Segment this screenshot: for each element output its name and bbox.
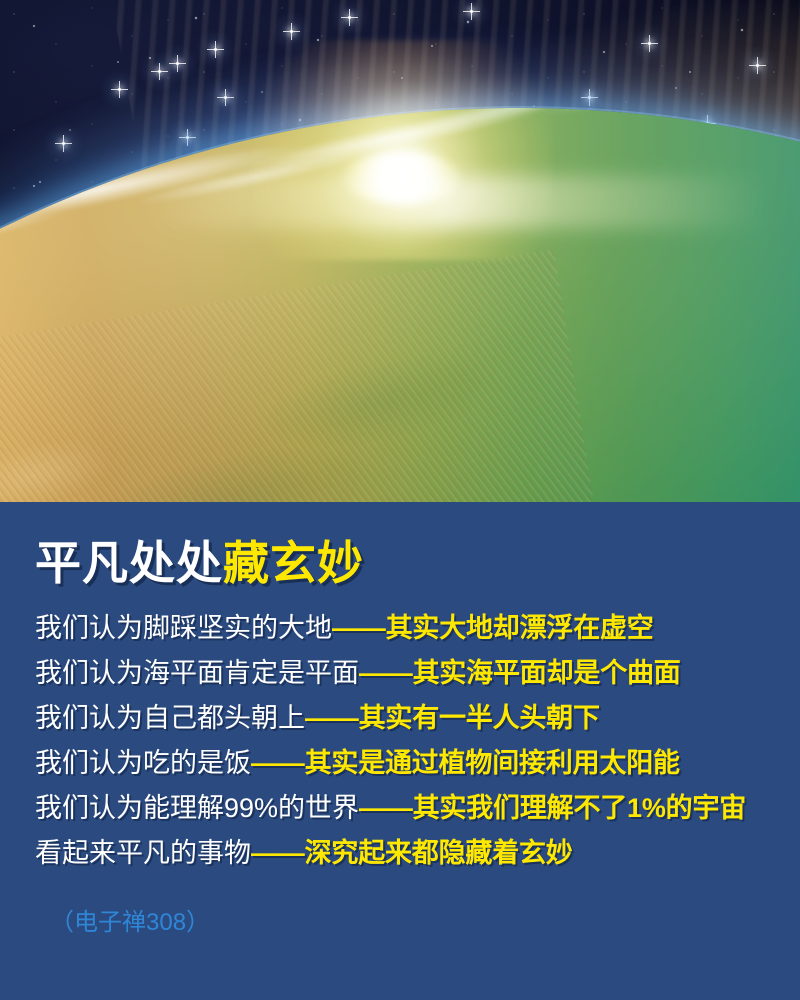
- author-signature: （电子禅308）: [50, 902, 210, 937]
- aphorism-reveal: 其实我们理解不了1%的宇宙: [413, 793, 746, 823]
- title-yellow-part: 藏玄妙: [223, 537, 364, 589]
- aphorism-premise: 我们认为能理解99%的世界: [35, 793, 359, 823]
- aphorism-premise: 我们认为自己都头朝上: [35, 703, 305, 733]
- sun-horizontal-flare: [150, 176, 770, 228]
- aphorism-premise: 我们认为吃的是饭: [35, 748, 251, 778]
- sun-core: [343, 152, 461, 204]
- aphorism-line: 我们认为脚踩坚实的大地——其实大地却漂浮在虚空: [35, 606, 785, 651]
- title-white-part: 平凡处处: [35, 537, 223, 589]
- aphorism-reveal: 其实是通过植物间接利用太阳能: [305, 748, 680, 778]
- aphorism-line: 我们认为吃的是饭——其实是通过植物间接利用太阳能: [35, 741, 785, 786]
- aphorism-reveal: 其实有一半人头朝下: [359, 703, 600, 733]
- aphorism-premise: 我们认为脚踩坚实的大地: [35, 613, 332, 643]
- aphorism-premise: 看起来平凡的事物: [35, 838, 251, 868]
- poster-root: 平凡处处藏玄妙 我们认为脚踩坚实的大地——其实大地却漂浮在虚空 我们认为海平面肯…: [0, 0, 800, 1000]
- aphorism-line: 我们认为能理解99%的世界——其实我们理解不了1%的宇宙: [35, 786, 785, 831]
- hero-space-image: [0, 0, 800, 502]
- aphorism-dash: ——: [251, 748, 305, 778]
- page-title: 平凡处处藏玄妙: [35, 540, 364, 586]
- aphorism-dash: ——: [251, 838, 305, 868]
- aphorism-reveal: 其实海平面却是个曲面: [413, 658, 681, 688]
- aphorism-dash: ——: [359, 793, 413, 823]
- aphorism-premise: 我们认为海平面肯定是平面: [35, 658, 359, 688]
- aphorism-dash: ——: [305, 703, 359, 733]
- aphorism-line: 我们认为自己都头朝上——其实有一半人头朝下: [35, 696, 785, 741]
- aphorism-line: 看起来平凡的事物——深究起来都隐藏着玄妙: [35, 831, 785, 876]
- aphorism-dash: ——: [332, 613, 386, 643]
- aphorism-reveal: 其实大地却漂浮在虚空: [386, 613, 654, 643]
- aphorism-dash: ——: [359, 658, 413, 688]
- aphorism-line: 我们认为海平面肯定是平面——其实海平面却是个曲面: [35, 651, 785, 696]
- aphorism-list: 我们认为脚踩坚实的大地——其实大地却漂浮在虚空 我们认为海平面肯定是平面——其实…: [35, 606, 785, 876]
- aphorism-reveal: 深究起来都隐藏着玄妙: [305, 838, 573, 868]
- text-panel: 平凡处处藏玄妙 我们认为脚踩坚实的大地——其实大地却漂浮在虚空 我们认为海平面肯…: [0, 502, 800, 1000]
